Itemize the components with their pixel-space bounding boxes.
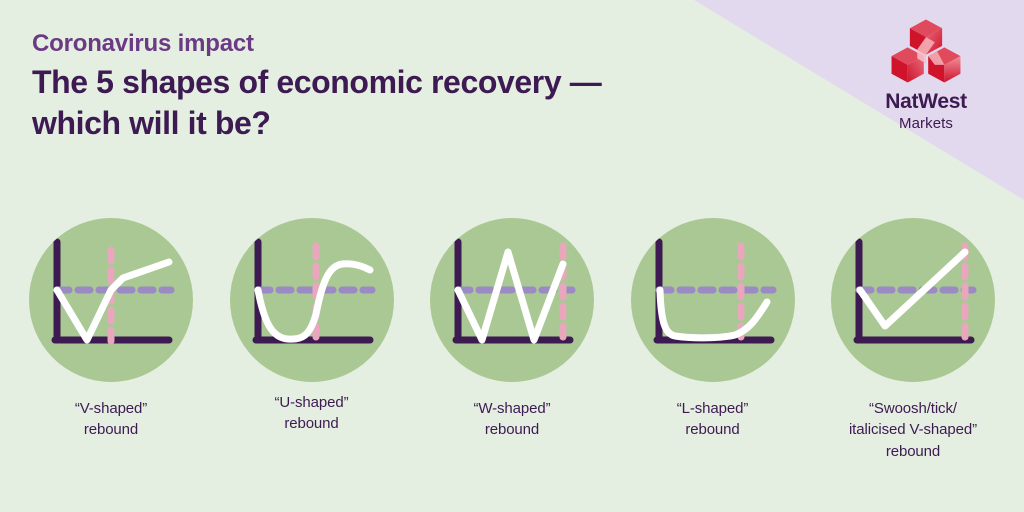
- panel-w-shaped: “W-shaped” rebound: [427, 218, 597, 498]
- panel-l-shaped: “L-shaped” rebound: [628, 218, 798, 498]
- chart-disc-u-shaped: [230, 218, 394, 382]
- panel-caption-w-shaped: “W-shaped” rebound: [473, 398, 550, 441]
- logo-wordmark: NatWest: [846, 90, 1006, 113]
- brand-logo: NatWest Markets: [846, 18, 1006, 136]
- logo-subword: Markets: [846, 113, 1006, 136]
- recovery-curve-l: [660, 290, 767, 338]
- infographic-canvas: Coronavirus impact The 5 shapes of econo…: [0, 0, 1024, 512]
- natwest-cubes-logo-icon: [889, 18, 963, 84]
- header-block: Coronavirus impact The 5 shapes of econo…: [32, 30, 752, 144]
- panel-u-shaped: “U-shaped” rebound: [227, 218, 397, 498]
- panel-v-shaped: “V-shaped” rebound: [26, 218, 196, 498]
- chart-disc-v-shaped: [29, 218, 193, 382]
- chart-disc-w-shaped: [430, 218, 594, 382]
- eyebrow-text: Coronavirus impact: [32, 30, 752, 58]
- panel-swoosh-shaped: “Swoosh/tick/ italicised V-shaped” rebou…: [828, 218, 998, 498]
- panel-caption-v-shaped: “V-shaped” rebound: [75, 398, 147, 441]
- chart-disc-swoosh-shaped: [831, 218, 995, 382]
- recovery-curve-w: [458, 252, 563, 340]
- panel-caption-u-shaped: “U-shaped” rebound: [274, 392, 348, 435]
- page-title: The 5 shapes of economic recovery — whic…: [32, 62, 752, 144]
- panel-caption-swoosh-shaped: “Swoosh/tick/ italicised V-shaped” rebou…: [849, 398, 977, 462]
- recovery-shape-panels: “V-shaped” rebound “U-shaped” rebound: [0, 218, 1024, 498]
- chart-disc-l-shaped: [631, 218, 795, 382]
- panel-caption-l-shaped: “L-shaped” rebound: [677, 398, 749, 441]
